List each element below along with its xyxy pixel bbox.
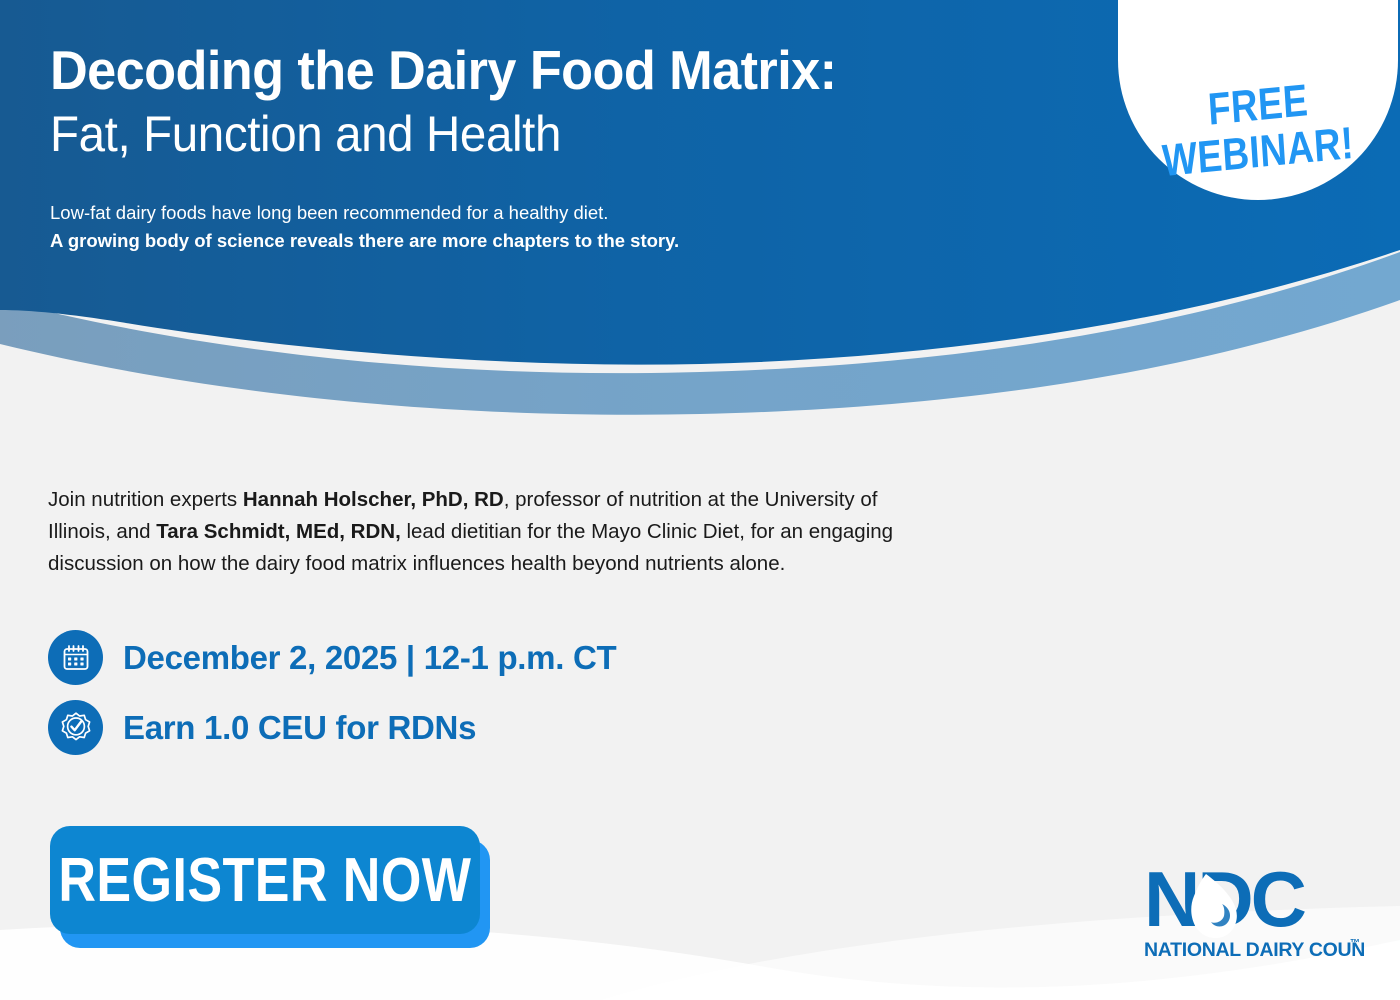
desc-intro: Join nutrition experts	[48, 488, 243, 511]
page-title: Decoding the Dairy Food Matrix: Fat, Fun…	[50, 41, 1090, 163]
calendar-icon	[48, 630, 103, 685]
description-paragraph: Join nutrition experts Hannah Holscher, …	[48, 484, 894, 580]
register-button-label: REGISTER NOW	[58, 845, 471, 916]
register-cta-wrapper: REGISTER NOW	[50, 826, 490, 948]
subtitle-line-1: Low-fat dairy foods have long been recom…	[50, 199, 950, 227]
title-line-1: Decoding the Dairy Food Matrix:	[50, 41, 1038, 99]
ceu-seal-icon	[48, 700, 103, 755]
detail-row-ceu: Earn 1.0 CEU for RDNs	[48, 700, 476, 755]
ceu-credit: Earn 1.0 CEU for RDNs	[123, 709, 476, 747]
webinar-datetime: December 2, 2025 | 12-1 p.m. CT	[123, 639, 616, 677]
ndc-trademark: ™	[1350, 938, 1360, 949]
free-badge-line2: WEBINAR!	[1161, 121, 1355, 183]
webinar-promo-poster: FREE WEBINAR! Decoding the Dairy Food Ma…	[0, 0, 1400, 1000]
detail-row-date: December 2, 2025 | 12-1 p.m. CT	[48, 630, 616, 685]
register-now-button[interactable]: REGISTER NOW	[50, 826, 480, 934]
subtitle: Low-fat dairy foods have long been recom…	[50, 199, 950, 255]
ndc-wordmark: NATIONAL DAIRY COUNCIL	[1144, 939, 1364, 961]
title-line-2: Fat, Function and Health	[50, 105, 1038, 163]
ndc-logo: NDC NATIONAL DAIRY COUNCIL ™	[1144, 858, 1364, 968]
speaker-name-2: Tara Schmidt, MEd, RDN,	[156, 520, 401, 543]
speaker-name-1: Hannah Holscher, PhD, RD	[243, 488, 504, 511]
subtitle-line-2: A growing body of science reveals there …	[50, 227, 950, 255]
